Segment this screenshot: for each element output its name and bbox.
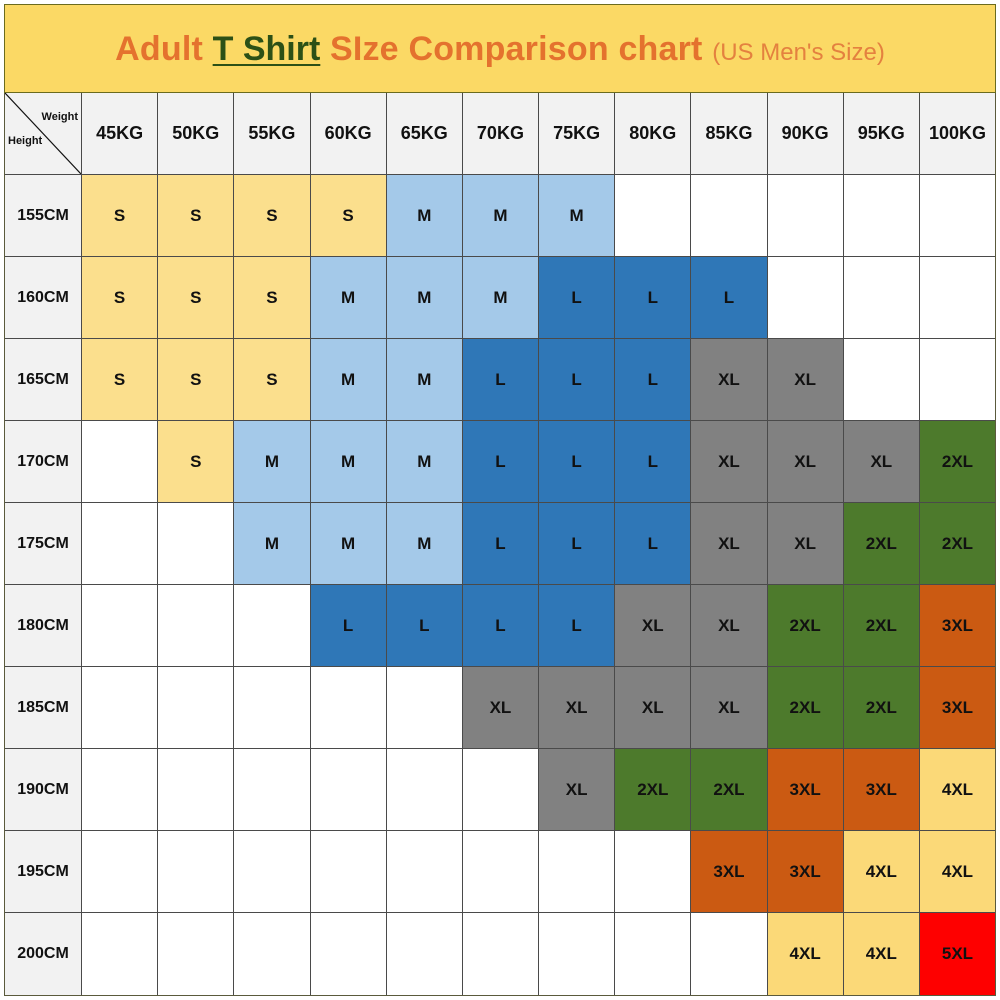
size-cell-4xl: 4XL [920,749,995,831]
size-cell-l: L [463,503,539,585]
column-header-65kg: 65KG [387,93,463,175]
column-header-50kg: 50KG [158,93,234,175]
column-header-60kg: 60KG [311,93,387,175]
size-cell-m: M [311,257,387,339]
size-cell-2xl: 2XL [768,585,844,667]
size-cell-empty [234,831,310,913]
size-cell-xl: XL [691,421,767,503]
size-cell-m: M [387,339,463,421]
column-header-85kg: 85KG [691,93,767,175]
size-cell-empty [311,913,387,995]
size-cell-s: S [158,257,234,339]
row-header-175cm: 175CM [5,503,82,585]
size-cell-empty [82,421,158,503]
size-cell-m: M [463,257,539,339]
row-header-155cm: 155CM [5,175,82,257]
size-cell-2xl: 2XL [691,749,767,831]
size-cell-empty [463,913,539,995]
size-cell-empty [768,175,844,257]
size-cell-empty [158,667,234,749]
size-chart-root: Adult T Shirt SIze Comparison chart (US … [4,4,996,996]
size-cell-3xl: 3XL [768,831,844,913]
size-cell-s: S [158,421,234,503]
size-cell-5xl: 5XL [920,913,995,995]
row-header-170cm: 170CM [5,421,82,503]
size-cell-xl: XL [615,585,691,667]
size-cell-m: M [539,175,615,257]
size-cell-s: S [234,257,310,339]
size-cell-empty [158,913,234,995]
size-cell-empty [311,749,387,831]
table-row: 170CMSMMMLLLXLXLXL2XL [5,421,995,503]
size-cell-empty [615,831,691,913]
column-header-55kg: 55KG [234,93,310,175]
size-cell-2xl: 2XL [920,503,995,585]
size-cell-m: M [387,421,463,503]
row-header-160cm: 160CM [5,257,82,339]
size-cell-xl: XL [768,339,844,421]
size-cell-empty [463,749,539,831]
size-cell-empty [539,831,615,913]
size-cell-xl: XL [691,503,767,585]
size-cell-l: L [615,503,691,585]
column-header-70kg: 70KG [463,93,539,175]
size-cell-empty [82,585,158,667]
size-cell-m: M [463,175,539,257]
size-cell-empty [387,831,463,913]
size-cell-3xl: 3XL [691,831,767,913]
size-table: WeightHeight45KG50KG55KG60KG65KG70KG75KG… [4,93,996,996]
size-cell-l: L [463,585,539,667]
column-header-80kg: 80KG [615,93,691,175]
size-cell-l: L [539,339,615,421]
size-cell-m: M [387,257,463,339]
row-header-185cm: 185CM [5,667,82,749]
size-cell-l: L [539,585,615,667]
table-row: 195CM3XL3XL4XL4XL [5,831,995,913]
title-banner: Adult T Shirt SIze Comparison chart (US … [4,4,996,93]
size-cell-l: L [615,257,691,339]
size-cell-s: S [82,339,158,421]
table-row: 175CMMMMLLLXLXL2XL2XL [5,503,995,585]
row-header-165cm: 165CM [5,339,82,421]
size-cell-xl: XL [615,667,691,749]
column-header-75kg: 75KG [539,93,615,175]
table-row: 190CMXL2XL2XL3XL3XL4XL [5,749,995,831]
size-cell-empty [463,831,539,913]
table-row: 180CMLLLLXLXL2XL2XL3XL [5,585,995,667]
size-cell-l: L [311,585,387,667]
size-cell-m: M [311,503,387,585]
column-header-100kg: 100KG [920,93,995,175]
size-cell-l: L [539,257,615,339]
height-axis-label: Height [8,135,42,147]
size-cell-2xl: 2XL [615,749,691,831]
size-cell-3xl: 3XL [920,667,995,749]
size-cell-empty [691,913,767,995]
size-cell-empty [82,667,158,749]
size-cell-m: M [387,503,463,585]
size-cell-2xl: 2XL [844,667,920,749]
size-cell-m: M [234,421,310,503]
size-cell-s: S [82,175,158,257]
size-cell-m: M [387,175,463,257]
size-cell-empty [158,503,234,585]
size-cell-empty [82,831,158,913]
size-cell-l: L [615,421,691,503]
weight-axis-label: Weight [42,111,78,123]
size-cell-4xl: 4XL [768,913,844,995]
title-part-two: SIze Comparison chart [320,30,712,68]
row-header-195cm: 195CM [5,831,82,913]
size-cell-empty [82,749,158,831]
size-cell-empty [82,913,158,995]
table-row: 185CMXLXLXLXL2XL2XL3XL [5,667,995,749]
size-cell-2xl: 2XL [768,667,844,749]
size-cell-empty [387,913,463,995]
size-cell-3xl: 3XL [768,749,844,831]
size-cell-empty [234,667,310,749]
size-cell-empty [387,749,463,831]
size-cell-l: L [539,503,615,585]
size-cell-empty [539,913,615,995]
size-cell-l: L [615,339,691,421]
size-cell-empty [844,175,920,257]
size-cell-2xl: 2XL [920,421,995,503]
row-header-180cm: 180CM [5,585,82,667]
size-cell-empty [234,585,310,667]
size-cell-s: S [234,339,310,421]
size-cell-s: S [82,257,158,339]
size-cell-m: M [234,503,310,585]
size-cell-xl: XL [844,421,920,503]
title-highlight: T Shirt [213,30,321,68]
size-cell-empty [311,831,387,913]
table-row: 165CMSSSMMLLLXLXL [5,339,995,421]
size-cell-empty [920,339,995,421]
size-cell-3xl: 3XL [844,749,920,831]
axis-corner-cell: WeightHeight [5,93,82,175]
column-header-45kg: 45KG [82,93,158,175]
size-cell-xl: XL [768,421,844,503]
size-cell-l: L [387,585,463,667]
size-cell-4xl: 4XL [844,913,920,995]
size-cell-m: M [311,339,387,421]
column-header-90kg: 90KG [768,93,844,175]
row-header-200cm: 200CM [5,913,82,995]
table-row: 160CMSSSMMMLLL [5,257,995,339]
table-header-row: WeightHeight45KG50KG55KG60KG65KG70KG75KG… [5,93,995,175]
size-cell-empty [920,257,995,339]
size-cell-l: L [463,339,539,421]
size-cell-empty [920,175,995,257]
table-row: 200CM4XL4XL5XL [5,913,995,995]
size-cell-xl: XL [691,585,767,667]
size-cell-l: L [539,421,615,503]
size-cell-empty [82,503,158,585]
size-cell-empty [768,257,844,339]
size-cell-xl: XL [691,667,767,749]
size-cell-xl: XL [539,749,615,831]
page-title: Adult T Shirt SIze Comparison chart (US … [115,32,885,66]
size-cell-empty [158,831,234,913]
size-cell-xl: XL [539,667,615,749]
size-cell-empty [844,339,920,421]
size-cell-4xl: 4XL [844,831,920,913]
size-cell-s: S [158,339,234,421]
table-row: 155CMSSSSMMM [5,175,995,257]
size-cell-empty [615,913,691,995]
column-header-95kg: 95KG [844,93,920,175]
size-cell-2xl: 2XL [844,585,920,667]
size-cell-m: M [311,421,387,503]
title-subtitle: (US Men's Size) [712,39,885,66]
size-cell-3xl: 3XL [920,585,995,667]
size-cell-l: L [463,421,539,503]
diagonal-divider-icon [5,93,81,174]
size-cell-xl: XL [691,339,767,421]
size-cell-empty [691,175,767,257]
size-cell-empty [234,913,310,995]
size-cell-s: S [234,175,310,257]
title-part-one: Adult [115,30,213,68]
size-cell-4xl: 4XL [920,831,995,913]
size-cell-empty [844,257,920,339]
size-cell-xl: XL [768,503,844,585]
size-cell-xl: XL [463,667,539,749]
size-cell-empty [387,667,463,749]
size-cell-s: S [311,175,387,257]
size-cell-empty [158,749,234,831]
size-cell-empty [615,175,691,257]
size-cell-empty [158,585,234,667]
size-cell-l: L [691,257,767,339]
size-cell-empty [234,749,310,831]
size-cell-2xl: 2XL [844,503,920,585]
size-cell-s: S [158,175,234,257]
row-header-190cm: 190CM [5,749,82,831]
size-cell-empty [311,667,387,749]
